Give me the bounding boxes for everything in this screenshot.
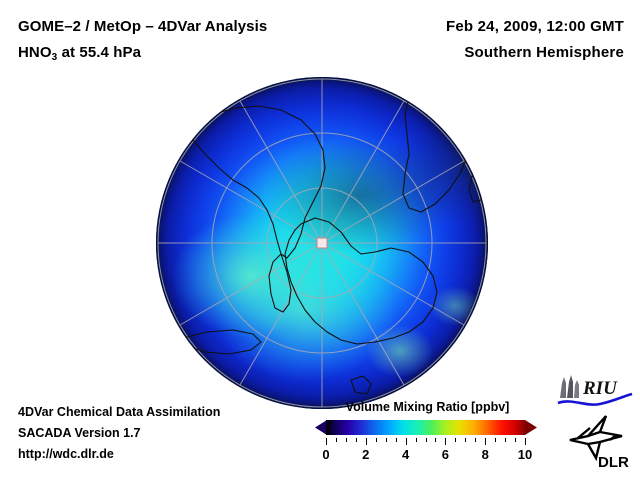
header-left: GOME–2 / MetOp – 4DVar Analysis HNO3 at … [18,14,348,68]
colorbar-gradient [326,420,525,435]
colorbar-minor-tick [356,438,357,442]
south-pole-marker [317,238,327,248]
colorbar-minor-tick [455,438,456,442]
colorbar-minor-tick [495,438,496,442]
header-right: Feb 24, 2009, 12:00 GMT Southern Hemisph… [344,14,624,66]
visualization-canvas: GOME–2 / MetOp – 4DVar Analysis HNO3 at … [0,0,640,480]
colorbar-minor-tick [416,438,417,442]
instrument-title: GOME–2 / MetOp – 4DVar Analysis [18,14,348,40]
dlr-logo: DLR [566,414,634,470]
colorbar-tick-axis [315,438,540,447]
colorbar-legend: Volume Mixing Ratio [ppbv] 0246810 [310,400,545,465]
riu-logo: RIU [556,374,634,408]
datetime-label: Feb 24, 2009, 12:00 GMT [344,14,624,40]
colorbar-tick-labels: 0246810 [315,447,540,465]
dlr-wordmark: DLR [598,454,629,470]
species-formula: HNO [18,44,52,61]
dlr-pinwheel-icon [570,416,622,458]
colorbar-high-arrow-cap [525,420,537,435]
colorbar-title: Volume Mixing Ratio [ppbv] [310,400,545,414]
footer-text-block: 4DVar Chemical Data Assimilation SACADA … [18,402,220,465]
colorbar-major-tick [485,438,486,445]
polar-globe-map [155,76,489,410]
riu-tower-icon [560,375,579,398]
colorbar-minor-tick [396,438,397,442]
colorbar-tick-label: 2 [362,447,369,462]
colorbar-minor-tick [435,438,436,442]
altitude-label: at 55.4 hPa [57,44,141,61]
colorbar-major-tick [326,438,327,445]
colorbar-minor-tick [386,438,387,442]
colorbar-major-tick [525,438,526,445]
colorbar-tick-label: 10 [518,447,532,462]
species-subscript: 3 [52,52,58,63]
colorbar-minor-tick [505,438,506,442]
colorbar-minor-tick [475,438,476,442]
colorbar-tick-label: 0 [322,447,329,462]
footer-line-url[interactable]: http://wdc.dlr.de [18,444,220,465]
footer-line-assimilation: 4DVar Chemical Data Assimilation [18,402,220,423]
colorbar-gradient-row [315,418,540,438]
colorbar-major-tick [445,438,446,445]
colorbar-tick-label: 4 [402,447,409,462]
colorbar-tick-label: 6 [442,447,449,462]
colorbar-minor-tick [346,438,347,442]
colorbar-minor-tick [515,438,516,442]
species-altitude-label: HNO3 at 55.4 hPa [18,40,348,68]
colorbar-minor-tick [376,438,377,442]
colorbar-major-tick [406,438,407,445]
footer-line-version: SACADA Version 1.7 [18,423,220,444]
colorbar-minor-tick [336,438,337,442]
colorbar-major-tick [366,438,367,445]
colorbar-minor-tick [426,438,427,442]
colorbar-tick-label: 8 [482,447,489,462]
riu-wordmark: RIU [582,378,618,399]
region-label: Southern Hemisphere [344,40,624,66]
colorbar-minor-tick [465,438,466,442]
